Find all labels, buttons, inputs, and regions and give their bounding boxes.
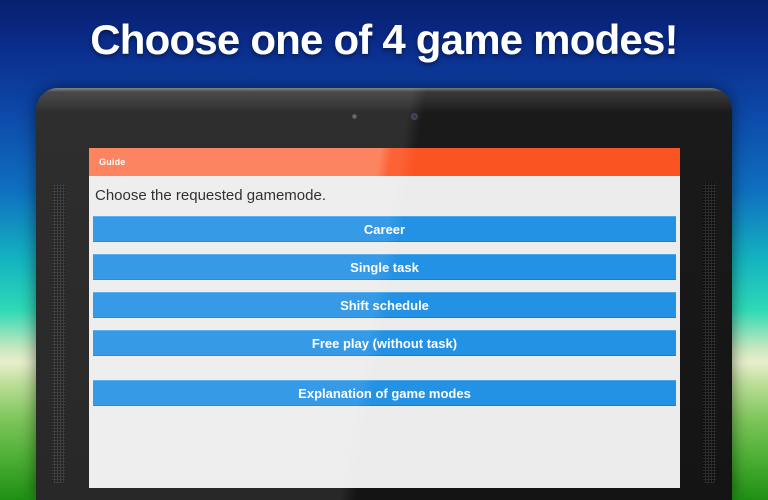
button-group-separator xyxy=(89,368,680,380)
tablet-device: Guide Choose the requested gamemode. Car… xyxy=(36,88,732,500)
gamemode-button-shift-schedule[interactable]: Shift schedule xyxy=(93,292,676,318)
bezel-top-highlight xyxy=(36,88,732,92)
app-titlebar: Guide xyxy=(89,148,680,176)
promo-headline: Choose one of 4 game modes! xyxy=(0,16,768,64)
gamemode-button-free-play[interactable]: Free play (without task) xyxy=(93,330,676,356)
gamemode-button-single-task[interactable]: Single task xyxy=(93,254,676,280)
titlebar-glare xyxy=(89,148,680,176)
app-title: Guide xyxy=(99,157,126,167)
gamemode-button-explanation[interactable]: Explanation of game modes xyxy=(93,380,676,406)
sensor-dot-icon xyxy=(352,114,357,119)
promo-screenshot-stage: Choose one of 4 game modes! Guide Choose… xyxy=(0,0,768,500)
front-camera-icon xyxy=(411,113,418,120)
gamemode-button-career[interactable]: Career xyxy=(93,216,676,242)
app-content-area: Choose the requested gamemode. Career Si… xyxy=(89,176,680,406)
speaker-grille-icon-right xyxy=(703,183,716,483)
speaker-grille-icon-left xyxy=(52,183,65,483)
tablet-screen: Guide Choose the requested gamemode. Car… xyxy=(89,148,680,488)
prompt-label: Choose the requested gamemode. xyxy=(89,176,680,216)
